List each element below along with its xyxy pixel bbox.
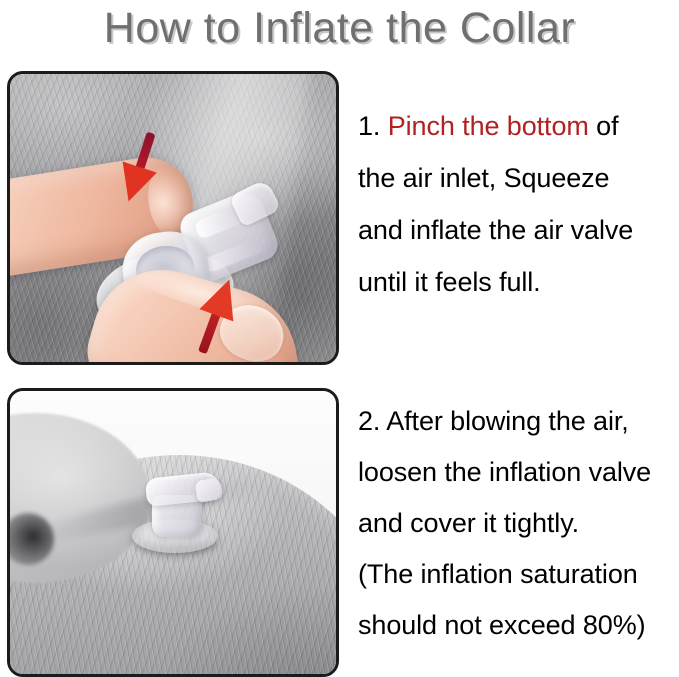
step-2-line-1: 2. After blowing the air, <box>358 396 676 447</box>
step-1-line-1: 1. Pinch the bottom of <box>358 100 676 152</box>
step-2-photo-scene <box>10 391 336 674</box>
step-1-photo-scene <box>10 74 336 362</box>
step-1-line-1-tail: of <box>589 111 619 141</box>
arrow-head <box>111 162 156 207</box>
step-2-instructions: 2. After blowing the air, loosen the inf… <box>358 396 676 651</box>
step-1-highlight: Pinch the bottom <box>388 111 589 141</box>
step-1-line-3: and inflate the air valve <box>358 204 676 256</box>
step-1-instructions: 1. Pinch the bottom of the air inlet, Sq… <box>358 100 676 308</box>
step-2-line-3: and cover it tightly. <box>358 498 676 549</box>
step-2-line-4: (The inflation saturation <box>358 549 676 600</box>
step-1-line-2: the air inlet, Squeeze <box>358 152 676 204</box>
step-2-photo <box>7 388 339 677</box>
page-title: How to Inflate the Collar <box>0 2 679 54</box>
step-1-number: 1. <box>358 111 388 141</box>
step-1-line-4: until it feels full. <box>358 256 676 308</box>
step-2-line-5: should not exceed 80%) <box>358 600 676 651</box>
step-1-photo <box>7 71 339 365</box>
step-2-line-2: loosen the inflation valve <box>358 447 676 498</box>
